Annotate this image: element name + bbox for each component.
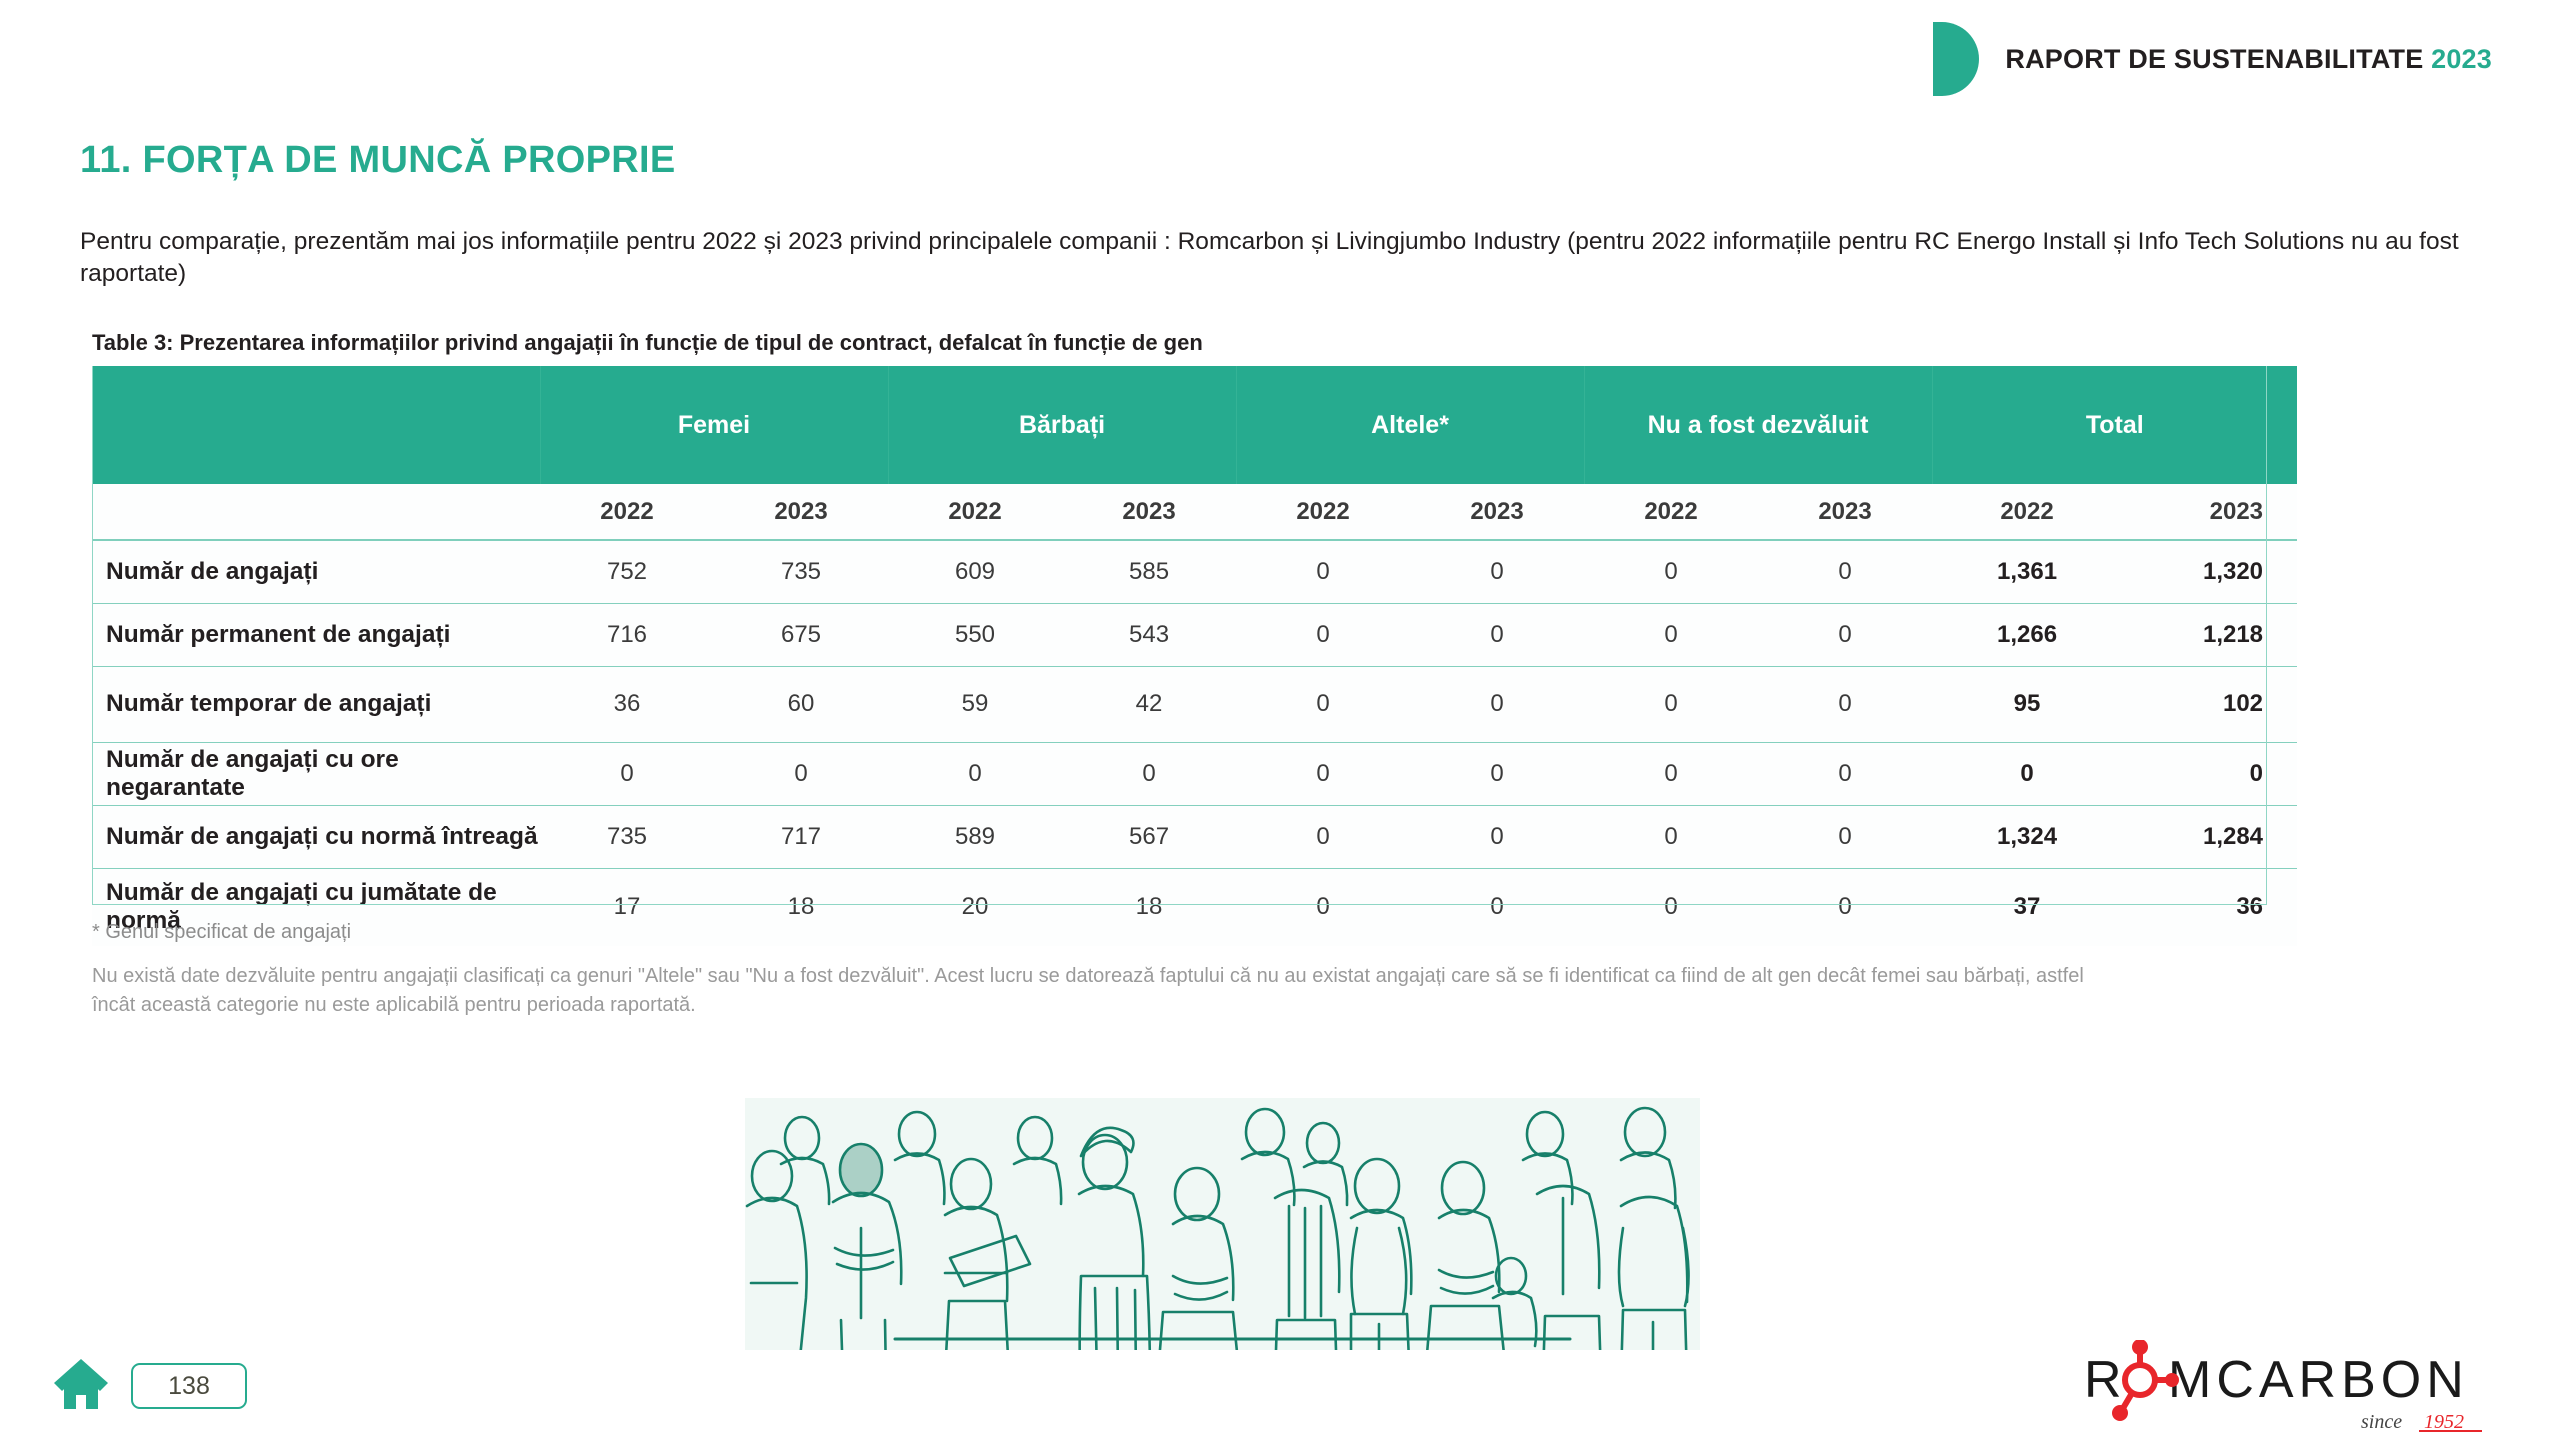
row-label: Număr de angajați [92,540,540,603]
crowd-of-people-sketch [745,1098,1700,1350]
footnote-note: Nu există date dezvăluite pentru angajaț… [92,962,2102,1020]
logo-tagline-year: 1952 [2424,1411,2464,1433]
cell-femei-2022: 0 [540,742,714,805]
table-header-total: Total [1932,366,2297,484]
cell-femei-2023: 717 [714,805,888,868]
cell-altele-2022: 0 [1236,603,1410,666]
cell-femei-2022: 752 [540,540,714,603]
cell-total-2023: 1,218 [2122,603,2297,666]
cell-barbati-2023: 18 [1062,868,1236,946]
cell-altele-2022: 0 [1236,742,1410,805]
cell-altele-2022: 0 [1236,805,1410,868]
cell-altele-2022: 0 [1236,868,1410,946]
cell-barbati-2023: 585 [1062,540,1236,603]
cell-femei-2023: 0 [714,742,888,805]
report-header-title: RAPORT DE SUSTENABILITATE 2023 [2005,44,2492,75]
table-header-nu-a-fost-dezvaluit: Nu a fost dezvăluit [1584,366,1932,484]
cell-femei-2023: 735 [714,540,888,603]
cell-nedezvaluit-2023: 0 [1758,868,1932,946]
table-year-barbati-2023: 2023 [1062,484,1236,540]
cell-femei-2023: 18 [714,868,888,946]
cell-altele-2023: 0 [1410,666,1584,742]
logo-tagline-since: since [2361,1411,2402,1433]
cell-nedezvaluit-2022: 0 [1584,666,1758,742]
cell-barbati-2023: 567 [1062,805,1236,868]
cell-altele-2023: 0 [1410,540,1584,603]
cell-femei-2022: 735 [540,805,714,868]
cell-barbati-2023: 543 [1062,603,1236,666]
cell-altele-2023: 0 [1410,603,1584,666]
table-year-total-2022: 2022 [1932,484,2122,540]
cell-barbati-2022: 20 [888,868,1062,946]
cell-altele-2023: 0 [1410,805,1584,868]
row-label: Număr temporar de angajați [92,666,540,742]
cell-total-2022: 95 [1932,666,2122,742]
cell-nedezvaluit-2022: 0 [1584,805,1758,868]
cell-barbati-2022: 589 [888,805,1062,868]
cell-total-2023: 36 [2122,868,2297,946]
logo-text-r: R [2084,1351,2127,1409]
row-label: Număr de angajați cu ore negarantate [92,742,540,805]
cell-total-2023: 0 [2122,742,2297,805]
report-header-title-year: 2023 [2431,44,2492,74]
cell-total-2022: 37 [1932,868,2122,946]
table-row: Număr de angajați cu ore negarantate 0 0… [92,742,2297,805]
cell-femei-2023: 675 [714,603,888,666]
table-year-nedezvaluit-2022: 2022 [1584,484,1758,540]
cell-total-2022: 1,324 [1932,805,2122,868]
cell-nedezvaluit-2023: 0 [1758,540,1932,603]
cell-altele-2023: 0 [1410,742,1584,805]
table-year-femei-2023: 2023 [714,484,888,540]
cell-nedezvaluit-2022: 0 [1584,540,1758,603]
cell-nedezvaluit-2023: 0 [1758,742,1932,805]
page-title: 11. FORȚA DE MUNCĂ PROPRIE [80,139,675,182]
table-header-femei: Femei [540,366,888,484]
cell-barbati-2023: 42 [1062,666,1236,742]
table-group-header-row: Femei Bărbați Altele* Nu a fost dezvălui… [92,366,2297,484]
page-number-badge[interactable]: 138 [131,1363,247,1409]
row-label: Număr de angajați cu normă întreagă [92,805,540,868]
logo-text-mcarbon: MCARBON [2168,1351,2469,1409]
cell-total-2022: 0 [1932,742,2122,805]
table-year-altele-2023: 2023 [1410,484,1584,540]
table-year-corner [92,484,540,540]
romcarbon-logo: R MCARBON since 1952 [2084,1340,2492,1436]
cell-total-2022: 1,266 [1932,603,2122,666]
cell-total-2023: 1,320 [2122,540,2297,603]
table-year-nedezvaluit-2023: 2023 [1758,484,1932,540]
cell-altele-2022: 0 [1236,666,1410,742]
cell-barbati-2022: 550 [888,603,1062,666]
half-disc-mark-icon [1933,22,1979,96]
cell-nedezvaluit-2023: 0 [1758,805,1932,868]
cell-barbati-2022: 609 [888,540,1062,603]
table-row: Număr temporar de angajați 36 60 59 42 0… [92,666,2297,742]
cell-femei-2023: 60 [714,666,888,742]
table-header-corner [92,366,540,484]
cell-total-2022: 1,361 [1932,540,2122,603]
home-icon[interactable] [52,1357,110,1411]
cell-femei-2022: 716 [540,603,714,666]
cell-barbati-2023: 0 [1062,742,1236,805]
table-row: Număr permanent de angajați 716 675 550 … [92,603,2297,666]
cell-nedezvaluit-2022: 0 [1584,742,1758,805]
cell-femei-2022: 36 [540,666,714,742]
table-row: Număr de angajați 752 735 609 585 0 0 0 … [92,540,2297,603]
table-year-total-2023: 2023 [2122,484,2297,540]
employees-by-contract-table: Femei Bărbați Altele* Nu a fost dezvălui… [92,366,2267,946]
cell-nedezvaluit-2023: 0 [1758,603,1932,666]
cell-total-2023: 1,284 [2122,805,2297,868]
cell-altele-2022: 0 [1236,540,1410,603]
report-header-title-main: RAPORT DE SUSTENABILITATE [2005,44,2423,74]
report-header: RAPORT DE SUSTENABILITATE 2023 [1933,22,2492,96]
table-row: Număr de angajați cu normă întreagă 735 … [92,805,2297,868]
intro-paragraph: Pentru comparație, prezentăm mai jos inf… [80,226,2480,291]
row-label: Număr permanent de angajați [92,603,540,666]
cell-nedezvaluit-2023: 0 [1758,666,1932,742]
table-caption: Table 3: Prezentarea informațiilor privi… [92,330,1203,356]
slide-page: RAPORT DE SUSTENABILITATE 2023 11. FORȚA… [0,0,2560,1440]
table-year-header-row: 2022 2023 2022 2023 2022 2023 2022 2023 … [92,484,2297,540]
cell-altele-2023: 0 [1410,868,1584,946]
table-year-barbati-2022: 2022 [888,484,1062,540]
cell-nedezvaluit-2022: 0 [1584,603,1758,666]
table-header-altele: Altele* [1236,366,1584,484]
table-year-femei-2022: 2022 [540,484,714,540]
cell-barbati-2022: 0 [888,742,1062,805]
page-number: 138 [168,1372,210,1401]
table-header-barbati: Bărbați [888,366,1236,484]
cell-total-2023: 102 [2122,666,2297,742]
cell-barbati-2022: 59 [888,666,1062,742]
cell-femei-2022: 17 [540,868,714,946]
cell-nedezvaluit-2022: 0 [1584,868,1758,946]
table-row: Număr de angajați cu jumătate de normă 1… [92,868,2297,946]
footnote-asterisk: * Genul specificat de angajați [92,921,351,944]
table-year-altele-2022: 2022 [1236,484,1410,540]
